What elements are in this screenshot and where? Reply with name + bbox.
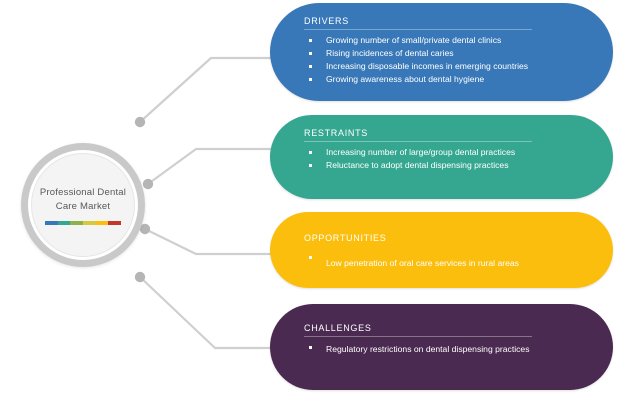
list-item: Growing number of small/private dental c… bbox=[304, 34, 591, 47]
card-challenges-title: CHALLENGES bbox=[304, 313, 532, 337]
card-challenges[interactable]: CHALLENGES Regulatory restrictions on de… bbox=[270, 304, 613, 390]
list-item-text: Reluctance to adopt dental dispensing pr… bbox=[326, 160, 509, 170]
hub-accent-segment bbox=[70, 221, 83, 225]
list-item: Increasing disposable incomes in emergin… bbox=[304, 60, 591, 73]
list-item: Regulatory restrictions on dental dispen… bbox=[304, 341, 591, 356]
card-drivers-list: Growing number of small/private dental c… bbox=[304, 34, 591, 86]
card-challenges-list: Regulatory restrictions on dental dispen… bbox=[304, 341, 591, 356]
hub-accent-segment bbox=[58, 221, 71, 225]
list-item: Reluctance to adopt dental dispensing pr… bbox=[304, 159, 591, 172]
list-item-text: Growing awareness about dental hygiene bbox=[326, 74, 484, 84]
bullet-icon bbox=[309, 164, 312, 167]
bullet-icon bbox=[309, 151, 312, 154]
list-item: Growing awareness about dental hygiene bbox=[304, 73, 591, 86]
list-item: Rising incidences of dental caries bbox=[304, 47, 591, 60]
bullet-icon bbox=[309, 256, 312, 259]
card-restraints-list: Increasing number of large/group dental … bbox=[304, 146, 591, 172]
list-item-text: Regulatory restrictions on dental dispen… bbox=[326, 344, 530, 354]
hub-inner-circle: Professional Dental Care Market bbox=[31, 153, 135, 257]
card-opportunities[interactable]: OPPORTUNITIES Low penetration of oral ca… bbox=[270, 212, 613, 288]
list-item: Increasing number of large/group dental … bbox=[304, 146, 591, 159]
card-restraints-title: RESTRAINTS bbox=[304, 124, 532, 142]
list-item-text: Growing number of small/private dental c… bbox=[326, 35, 501, 45]
bullet-icon bbox=[309, 65, 312, 68]
bullet-icon bbox=[309, 52, 312, 55]
list-item-text: Increasing number of large/group dental … bbox=[326, 147, 515, 157]
card-opportunities-list: Low penetration of oral care services in… bbox=[304, 251, 591, 270]
hub-accent-segment bbox=[83, 221, 96, 225]
bullet-icon bbox=[309, 78, 312, 81]
hub-accent-bar bbox=[45, 221, 121, 225]
hub-title-line1: Professional Dental bbox=[40, 187, 126, 198]
market-hub: Professional Dental Care Market bbox=[21, 143, 145, 267]
hub-accent-segment bbox=[108, 221, 121, 225]
list-item-text: Rising incidences of dental caries bbox=[326, 48, 454, 58]
connector-dot-challenges bbox=[135, 272, 145, 282]
hub-accent-segment bbox=[96, 221, 109, 225]
bullet-icon bbox=[309, 39, 312, 42]
list-item-text: Increasing disposable incomes in emergin… bbox=[326, 61, 528, 71]
hub-accent-segment bbox=[45, 221, 58, 225]
connector-dot-drivers bbox=[135, 117, 145, 127]
card-drivers[interactable]: DRIVERS Growing number of small/private … bbox=[270, 3, 613, 101]
card-opportunities-title: OPPORTUNITIES bbox=[304, 221, 532, 247]
hub-title: Professional Dental Care Market bbox=[35, 186, 131, 214]
hub-title-line2: Care Market bbox=[56, 201, 110, 212]
list-item: Low penetration of oral care services in… bbox=[304, 251, 591, 270]
diagram-canvas: Professional Dental Care Market DRIVERS … bbox=[0, 0, 618, 411]
card-restraints[interactable]: RESTRAINTS Increasing number of large/gr… bbox=[270, 115, 613, 199]
bullet-icon bbox=[309, 346, 312, 349]
list-item-text: Low penetration of oral care services in… bbox=[326, 258, 519, 268]
card-drivers-title: DRIVERS bbox=[304, 12, 532, 30]
